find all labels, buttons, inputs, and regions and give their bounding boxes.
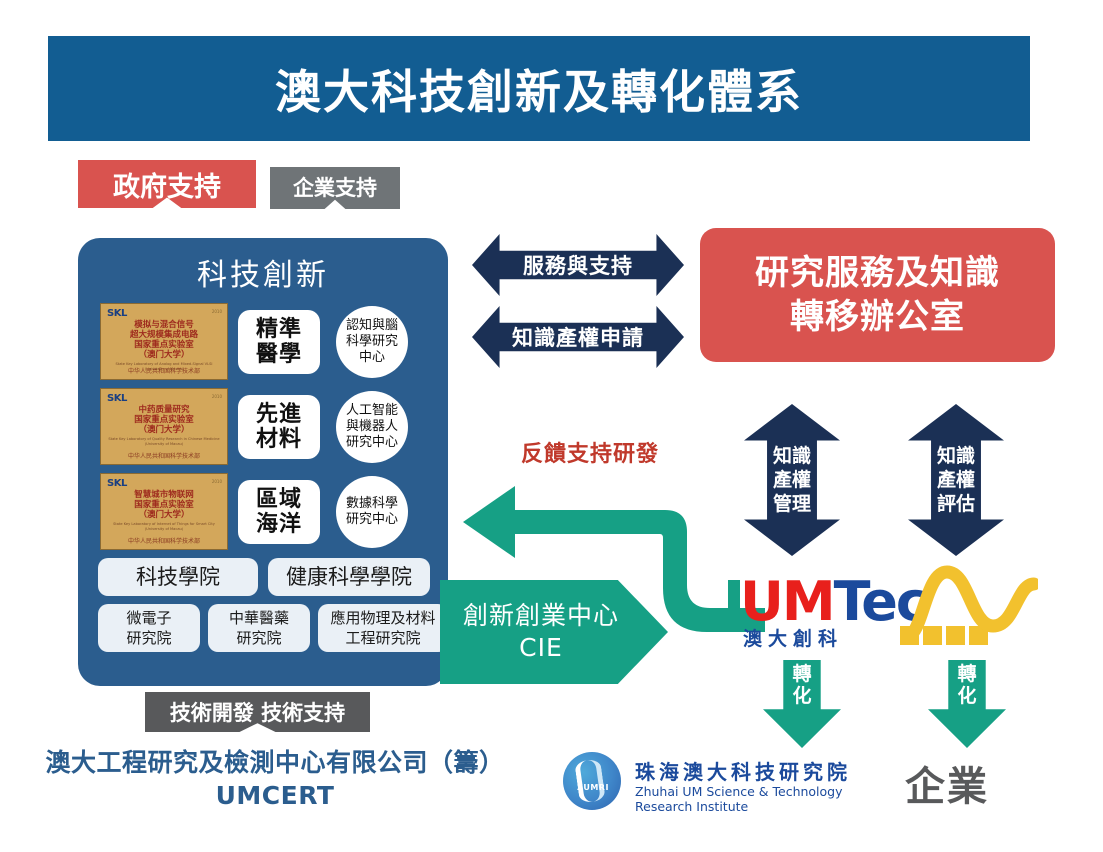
page-title-banner: 澳大科技創新及轉化體系 [48,36,1030,141]
arrow-ip-application-label: 知識產權申請 [512,322,644,352]
umtec-chinese-text: 澳大創科 [743,624,843,651]
faculty-health-sciences: 健康科學學院 [268,558,430,596]
skl-plaque-code: 2010 [212,309,222,314]
umcert-block: 澳大工程研究及檢測中心有限公司（籌） UMCERT [40,746,510,812]
skl-logo: SKL [107,308,127,319]
arrow-ip-application: 知識產權申請 [472,306,684,368]
institute-microelectronics: 微電子研究院 [98,604,200,652]
skl-plaque-title: 中药质量研究国家重点实验室（澳门大学） [134,405,194,435]
innovation-panel: 科技創新 SKL 2010 模拟与混合信号超大规模集成电路国家重点实验室（澳门大… [78,238,448,686]
skl-plaque-subtitle: State Key Laboratory of Quality Research… [108,437,219,446]
theme-box-regional-ocean: 區域海洋 [238,480,320,544]
umtec-tick-icon [728,580,740,614]
arrow-transform-enterprise: 轉化 [928,660,1006,748]
dna-helix-icon [574,758,606,803]
tech-development-label: 技術開發 技術支持 [170,697,345,727]
skl-plaque: SKL 2010 中药质量研究国家重点实验室（澳门大学） State Key L… [100,388,228,465]
theme-box-advanced-materials: 先進材料 [238,395,320,459]
theme-box-precision-medicine: 精準醫學 [238,310,320,374]
skl-plaque: SKL 2010 智慧城市物联网国家重点实验室（澳门大学） State Key … [100,473,228,550]
innovation-panel-title: 科技創新 [78,250,448,294]
government-support-label: 政府支持 [113,165,221,204]
tech-development-ribbon: 技術開發 技術支持 [145,692,370,732]
skl-plaque-footer: 中华人民共和国科学技术部 [101,451,227,460]
feedback-support-label: 反饋支持研發 [480,436,700,468]
rskto-box: 研究服務及知識轉移辦公室 [700,228,1055,362]
skl-plaque-footer: 中华人民共和国科学技术部 [101,536,227,545]
centre-cognitive-brain-science: 認知與腦科學研究中心 [336,306,408,378]
page-title: 澳大科技創新及轉化體系 [275,56,803,122]
zumri-english-name: Zhuhai UM Science & Technology Research … [635,784,893,814]
institute-chinese-medical-sciences: 中華醫藥研究院 [208,604,310,652]
zumri-chinese-name: 珠海澳大科技研究院 [635,756,851,785]
umcert-english-name: UMCERT [40,779,510,812]
zumri-logo-icon: ZUMRI [563,752,621,810]
skl-plaque-subtitle: State Key Laboratory of Internet of Thin… [113,522,215,531]
centre-ai-robotics: 人工智能與機器人研究中心 [336,391,408,463]
skl-plaque-code: 2010 [212,394,222,399]
enterprise-support-label: 企業支持 [293,172,377,202]
umtec-wave-icon [903,562,1038,640]
diagram-canvas: 澳大科技創新及轉化體系 政府支持 企業支持 科技創新 SKL 2010 模拟与混… [0,0,1103,852]
enterprise-label: 企業 [905,754,989,812]
skl-plaque-title: 模拟与混合信号超大规模集成电路国家重点实验室（澳门大学） [130,320,198,360]
skl-logo: SKL [107,478,127,489]
umtec-logo: UMTec 澳大創科 [735,570,1035,655]
enterprise-support-ribbon: 企業支持 [270,167,400,209]
arrow-service-support-label: 服務與支持 [523,250,633,280]
skl-logo: SKL [107,393,127,404]
skl-plaque-title: 智慧城市物联网国家重点实验室（澳门大学） [134,490,194,520]
government-support-ribbon: 政府支持 [78,160,256,208]
skl-plaque-code: 2010 [212,479,222,484]
skl-plaque-footer: 中华人民共和国科学技术部 [101,366,227,375]
arrow-ip-assessment: 知識產權評估 [908,404,1004,556]
umcert-chinese-name: 澳大工程研究及檢測中心有限公司（籌） [40,746,510,779]
arrow-transform-zumri: 轉化 [763,660,841,748]
arrow-service-support: 服務與支持 [472,234,684,296]
skl-plaque: SKL 2010 模拟与混合信号超大规模集成电路国家重点实验室（澳门大学） St… [100,303,228,380]
zumri-badge-text: ZUMRI [576,783,610,792]
zumri-block: ZUMRI 珠海澳大科技研究院 Zhuhai UM Science & Tech… [563,750,893,814]
institute-applied-physics-materials: 應用物理及材料工程研究院 [318,604,448,652]
centre-data-science: 數據科學研究中心 [336,476,408,548]
faculty-science-technology: 科技學院 [98,558,258,596]
